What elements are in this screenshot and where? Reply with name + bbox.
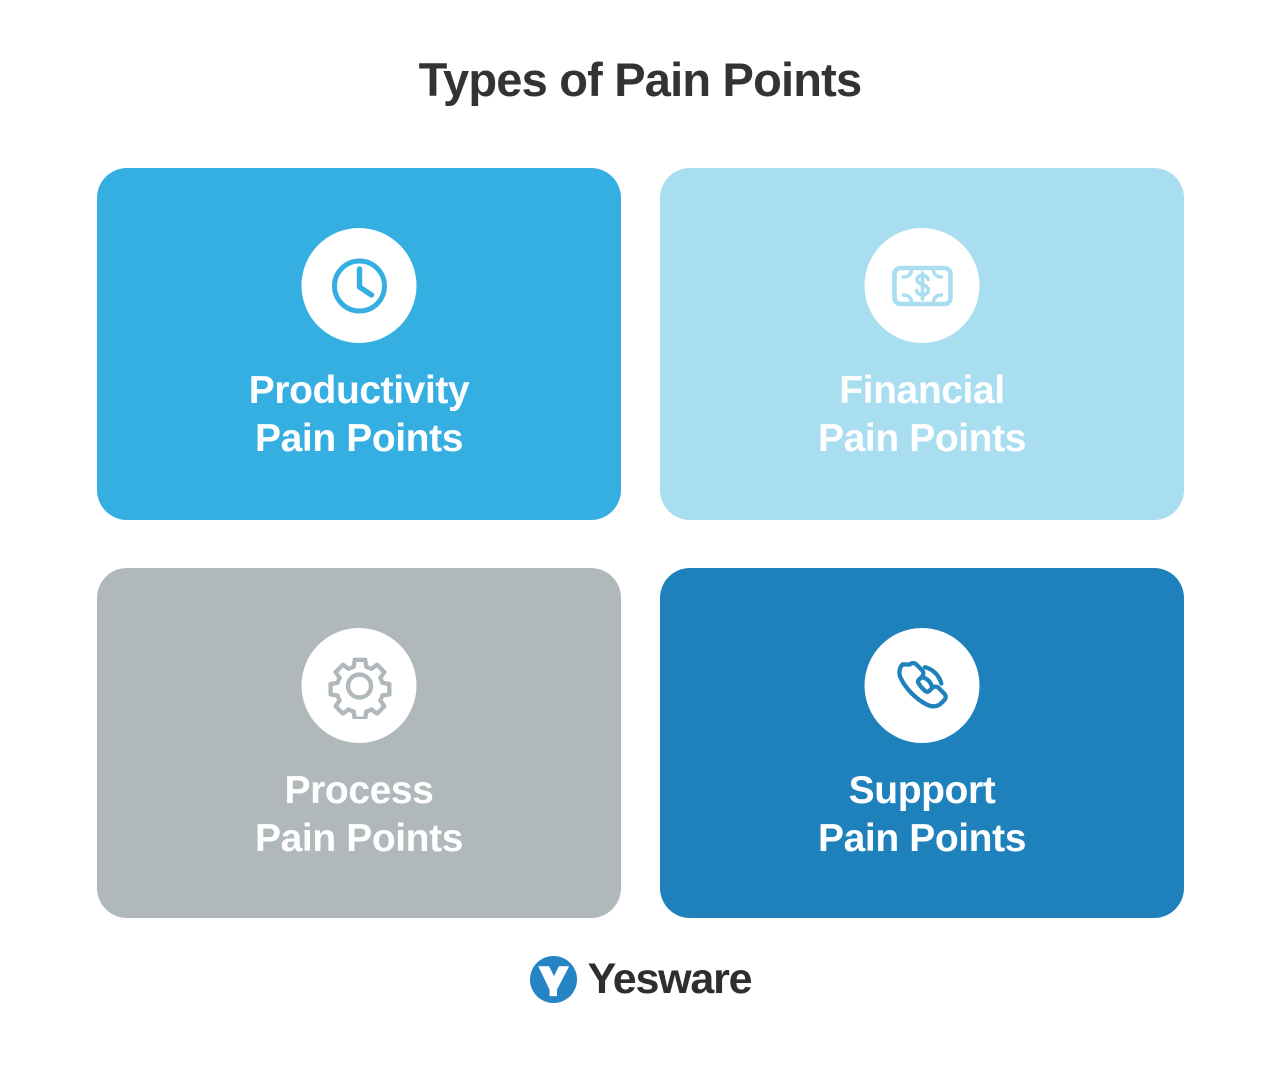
gear-icon [326,653,392,719]
card-label-process: Process Pain Points [97,767,621,862]
icon-badge-financial [865,228,980,343]
brand-footer: Yesware [0,955,1280,1004]
card-financial[interactable]: Financial Pain Points [660,168,1184,520]
card-label-line2: Pain Points [660,415,1184,463]
card-label-productivity: Productivity Pain Points [97,367,621,462]
card-label-line2: Pain Points [97,415,621,463]
card-process[interactable]: Process Pain Points [97,568,621,918]
card-productivity[interactable]: Productivity Pain Points [97,168,621,520]
card-label-line1: Support [849,769,996,812]
card-label-support: Support Pain Points [660,767,1184,862]
banknote-dollar-icon [888,252,956,320]
card-label-line2: Pain Points [660,815,1184,863]
card-label-line1: Productivity [249,369,470,412]
brand-name: Yesware [588,958,752,1001]
card-label-line1: Financial [839,369,1004,412]
infographic-page: Types of Pain Points Productivity Pain P… [0,0,1280,1068]
pain-points-card-grid: Productivity Pain Points [97,168,1184,918]
page-title: Types of Pain Points [0,52,1280,107]
card-support[interactable]: Support Pain Points [660,568,1184,918]
card-label-financial: Financial Pain Points [660,367,1184,462]
card-label-line1: Process [285,769,434,812]
clock-icon [327,254,391,318]
yesware-logo-mark-icon [529,955,578,1004]
phone-ringing-icon [889,653,955,719]
card-label-line2: Pain Points [97,815,621,863]
icon-badge-process [302,628,417,743]
icon-badge-support [865,628,980,743]
icon-badge-productivity [302,228,417,343]
